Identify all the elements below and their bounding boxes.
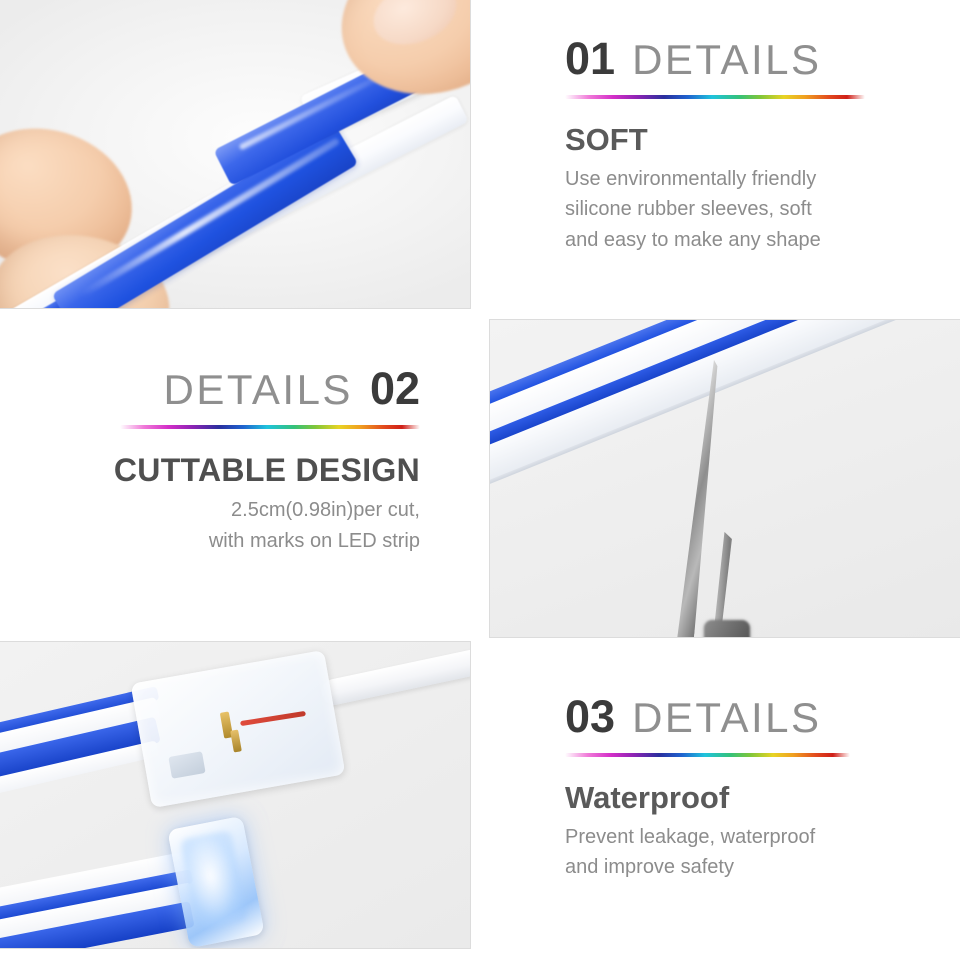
photo-soft [0,0,471,309]
infographic-page: 01 DETAILS SOFT Use environmentally frie… [0,0,960,960]
rainbow-divider-03 [565,753,850,757]
photo-cut-scene [490,320,960,637]
heading-row-02: DETAILS 02 [20,366,420,411]
detail-description-03: Prevent leakage, waterproof and improve … [565,822,940,883]
rainbow-divider-01 [565,95,865,99]
description-line: and easy to make any shape [565,225,940,255]
detail-block-03: 03 DETAILS Waterproof Prevent leakage, w… [565,694,940,883]
detail-block-02: DETAILS 02 CUTTABLE DESIGN 2.5cm(0.98in)… [20,366,420,556]
photo-soft-scene [0,0,470,308]
detail-description-01: Use environmentally friendly silicone ru… [565,164,940,255]
detail-label-01: DETAILS [632,39,821,81]
photo-waterproof-scene [0,642,470,948]
detail-number-03: 03 [565,694,615,739]
detail-number-02: 02 [370,366,420,411]
heading-row-01: 01 DETAILS [565,36,940,81]
detail-subtitle-01: SOFT [565,123,940,157]
photo-waterproof [0,641,471,949]
description-line: Use environmentally friendly [565,164,940,194]
description-line: Prevent leakage, waterproof [565,822,940,852]
description-line: silicone rubber sleeves, soft [565,194,940,224]
detail-number-01: 01 [565,36,615,81]
heading-row-03: 03 DETAILS [565,694,940,739]
scissors-pivot [704,620,750,637]
detail-label-02: DETAILS [164,369,353,411]
detail-label-03: DETAILS [632,697,821,739]
detail-description-02: 2.5cm(0.98in)per cut, with marks on LED … [20,495,420,556]
photo-cut [489,319,960,638]
description-line: with marks on LED strip [20,526,420,556]
detail-subtitle-03: Waterproof [565,781,940,815]
description-line: and improve safety [565,852,940,882]
description-line: 2.5cm(0.98in)per cut, [20,495,420,525]
detail-subtitle-02: CUTTABLE DESIGN [20,453,420,488]
detail-block-01: 01 DETAILS SOFT Use environmentally frie… [565,36,940,255]
rainbow-divider-02 [120,425,420,429]
